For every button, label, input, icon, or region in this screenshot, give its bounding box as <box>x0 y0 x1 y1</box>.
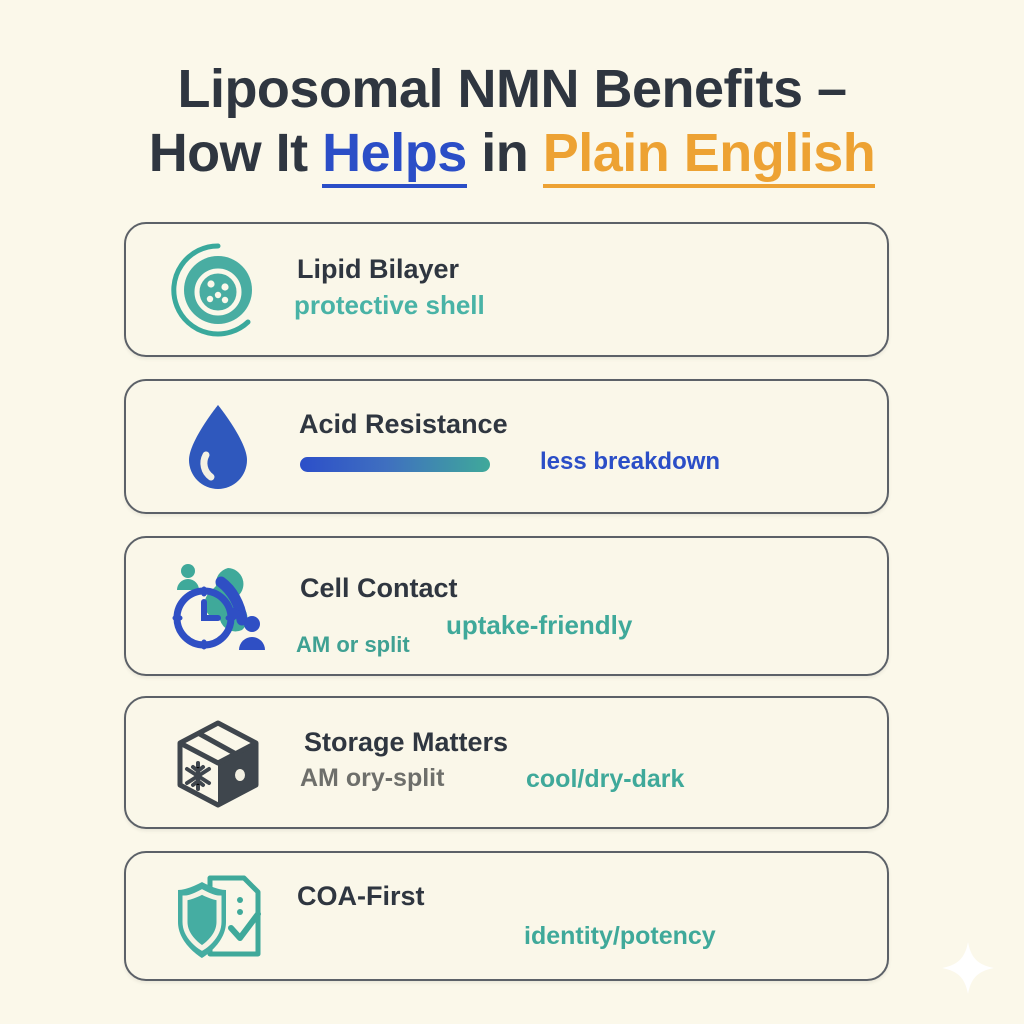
card-tag-less-breakdown: less breakdown <box>540 448 720 476</box>
title-highlight-plain-english: Plain English <box>543 123 876 188</box>
card-tag-cool-dry-dark: cool/dry-dark <box>526 765 684 794</box>
title-text-how-it: How It <box>149 123 322 183</box>
title-text-in: in <box>467 123 543 183</box>
card-title: Lipid Bilayer <box>297 254 459 285</box>
title-highlight-helps: Helps <box>322 123 467 188</box>
card-tag-identity-potency: identity/potency <box>524 922 716 951</box>
benefit-card-list: Lipid Bilayer protective shell Acid Resi… <box>124 222 889 981</box>
benefit-card-lipid-bilayer[interactable]: Lipid Bilayer protective shell <box>124 222 889 357</box>
sparkle-icon <box>940 940 996 996</box>
card-title: Cell Contact <box>300 573 458 604</box>
card-tag-uptake-friendly: uptake-friendly <box>446 610 632 641</box>
droplet-icon <box>166 395 270 499</box>
card-title: Acid Resistance <box>299 409 508 440</box>
benefit-card-coa-first[interactable]: COA-First identity/potency <box>124 851 889 981</box>
clock-people-icon <box>166 554 270 658</box>
infographic-page: Liposomal NMN Benefits – How It Helps in… <box>0 0 1024 1024</box>
title-line-2: How It Helps in Plain English <box>0 122 1024 184</box>
card-title: Storage Matters <box>304 727 508 758</box>
page-title: Liposomal NMN Benefits – How It Helps in… <box>0 58 1024 184</box>
benefit-card-cell-contact[interactable]: Cell Contact AM or split uptake-friendly <box>124 536 889 676</box>
card-title: COA-First <box>297 881 425 912</box>
benefit-card-storage-matters[interactable]: Storage Matters AM ory-split cool/dry-da… <box>124 696 889 829</box>
card-tag-am-ory-split: AM ory-split <box>300 764 444 793</box>
shield-document-icon <box>166 864 270 968</box>
cold-box-icon <box>166 711 270 815</box>
liposome-icon <box>166 238 270 342</box>
card-tag-am-or-split: AM or split <box>296 632 410 658</box>
benefit-card-acid-resistance[interactable]: Acid Resistance less breakdown <box>124 379 889 514</box>
card-tag-protective-shell: protective shell <box>294 290 485 321</box>
title-line-1: Liposomal NMN Benefits – <box>0 58 1024 120</box>
acid-resistance-progress-bar <box>300 457 490 472</box>
